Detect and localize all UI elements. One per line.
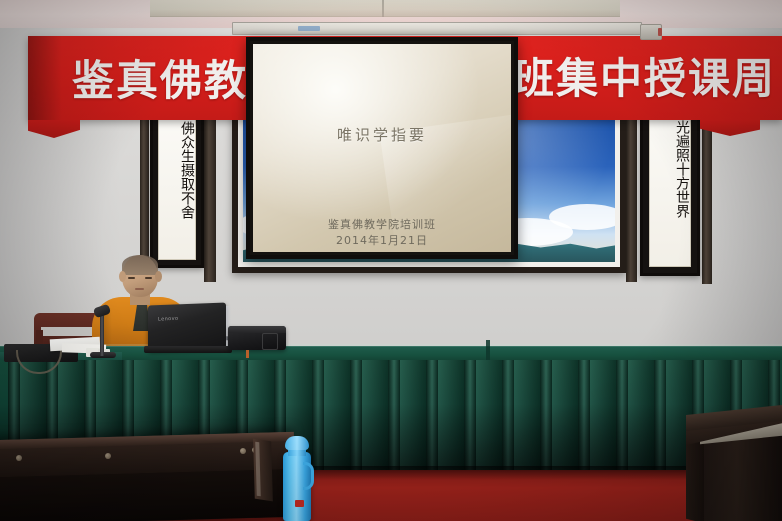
- wall-post-left-inner: [204, 100, 216, 282]
- banner-fold-shadow: [28, 36, 62, 120]
- projector-screen-surface: 唯识学指要 鉴真佛教学院培训班 2014年1月21日: [253, 44, 511, 252]
- briefcase-tag: [246, 350, 249, 358]
- monk-eye-left: [128, 277, 135, 279]
- lectern-icon: [700, 436, 782, 521]
- mural-cloud: [549, 204, 615, 230]
- laptop-icon: [148, 303, 226, 352]
- wall-post-right-inner: [626, 96, 637, 282]
- briefcase-strap: [262, 333, 278, 350]
- roller-brand-label: [298, 26, 320, 31]
- calligraphy-scroll-left: 佛众生摄取不舍: [158, 116, 196, 260]
- roller-indicator-dot: [658, 28, 662, 36]
- microphone-stand: [100, 312, 104, 356]
- banner-text-right: 班集中授课周: [512, 58, 776, 100]
- monk-ear-right: [155, 271, 162, 282]
- slide-subtitle-date: 2014年1月21日: [253, 232, 511, 248]
- wall-post-left-outer: [140, 100, 149, 280]
- laptop-base: [144, 346, 232, 353]
- lecture-hall-photo: 佛众生摄取不舍 光遍照十方世界 鉴真佛教 班集中授课周 唯识学指要 鉴真佛教学院…: [0, 0, 782, 521]
- briefcase-flap: [228, 326, 286, 333]
- calligraphy-scroll-right: 光遍照十方世界: [649, 113, 691, 267]
- table-edge-highlight: [0, 344, 782, 347]
- thermos-handle: [303, 462, 314, 490]
- desk-screw: [240, 448, 246, 454]
- monk-mouth: [135, 288, 144, 290]
- monk-ear-left: [119, 271, 126, 282]
- scroll-right-text: 光遍照十方世界: [650, 120, 690, 218]
- desk-screw: [105, 453, 111, 459]
- slide-title: 唯识学指要: [253, 124, 511, 145]
- projection-screen-roller-housing: [232, 22, 642, 35]
- scroll-left-text: 佛众生摄取不舍: [159, 121, 195, 219]
- monk-eye-right: [145, 277, 152, 279]
- slide-subtitle-organization: 鉴真佛教学院培训班: [253, 216, 511, 232]
- monk-hair: [122, 255, 158, 275]
- foreground-desk-shelf: [0, 469, 287, 521]
- desk-screw: [16, 455, 22, 461]
- banner-text-left: 鉴真佛教: [72, 60, 248, 102]
- thermos-label: [295, 500, 304, 507]
- thermos-cap: [285, 436, 309, 450]
